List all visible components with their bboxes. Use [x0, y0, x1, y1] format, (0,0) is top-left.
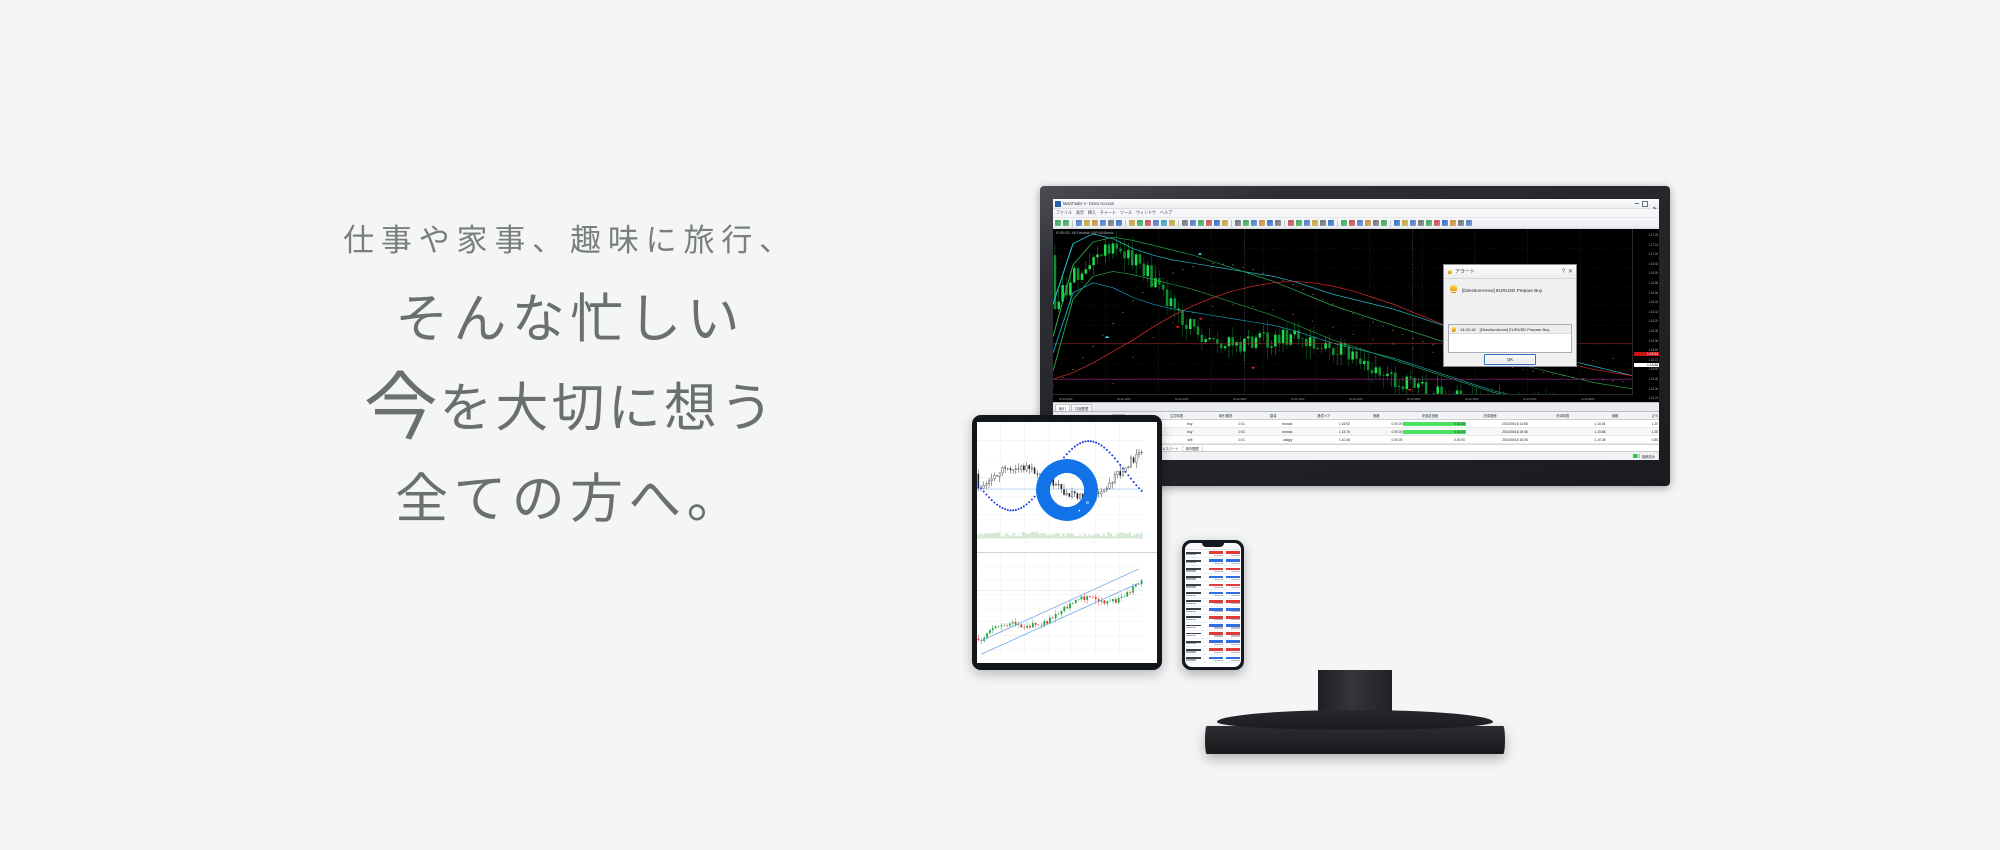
quote-symbol	[1186, 600, 1206, 604]
terminal-cell: 1.10.38	[1529, 438, 1607, 442]
quote-symbol	[1186, 584, 1206, 588]
tablet-top-chart[interactable]: EURUSD, Daily 1.17801.17401.17001.16601.…	[977, 422, 1157, 553]
phone-quotes-list[interactable]	[1185, 550, 1241, 667]
price-tick: 1.15.60	[1648, 367, 1658, 371]
quote-ask	[1224, 648, 1240, 652]
status-connection: 接続済み	[1630, 452, 1659, 460]
time-tick: 20 Jun 16:00	[1465, 397, 1478, 401]
terminal-header-cell: 손익	[1619, 413, 1659, 418]
clock-icon[interactable]: ◷	[1074, 519, 1079, 524]
pencil-icon[interactable]: /	[1096, 540, 1101, 545]
gear-icon[interactable]: ✲	[1117, 519, 1122, 524]
terminal-cell: 2021/06/18 15:46	[1466, 430, 1529, 434]
quote-symbol	[1186, 649, 1206, 653]
toolbar-button-43[interactable]	[1434, 220, 1440, 226]
toolbar-button-32[interactable]	[1341, 220, 1347, 226]
terminal-cell: 1.15.92	[1293, 422, 1351, 426]
hero-copy: 仕事や家事、趣味に旅行、 そんな忙しい 今を大切に想う 全ての方へ。	[250, 225, 890, 526]
quote-bid	[1207, 648, 1223, 652]
toolbar-button-27[interactable]	[1296, 220, 1302, 226]
alert-close-icon[interactable]: ✕	[1568, 269, 1573, 275]
time-tick: 21 Jun 08:00	[1581, 397, 1594, 401]
terminal-cell: eurusd	[1246, 422, 1293, 426]
terminal-header-cell: 価格	[1570, 413, 1619, 418]
quote-ask	[1224, 608, 1240, 612]
price-tick: 1.15.48	[1648, 377, 1658, 381]
toolbar-separator	[1284, 220, 1285, 227]
terminal-header-cell: 数量	[1233, 413, 1277, 418]
price-tick: 1.16.80	[1648, 271, 1658, 275]
alert-message: [DirectionArrow] EURUSD Prepare Buy	[1462, 284, 1542, 294]
time-tick: 19 Jun 00:00	[1175, 397, 1188, 401]
toolbar-separator	[1390, 220, 1391, 227]
list-item[interactable]	[1185, 574, 1241, 582]
terminal-footer-tab-6[interactable]: 操作履歴	[1186, 446, 1203, 451]
terminal-cell: 1.15.88	[1529, 430, 1607, 434]
toolbar-separator	[1178, 220, 1179, 227]
alert-message-area: [DirectionArrow] EURUSD Prepare Buy	[1444, 279, 1576, 324]
toolbar-button-33[interactable]	[1349, 220, 1355, 226]
toolbar-button-2[interactable]	[1076, 220, 1082, 226]
price-tick: 1.16.20	[1648, 319, 1658, 323]
quote-symbol	[1186, 568, 1206, 572]
menu-item-4[interactable]: ツール	[1120, 210, 1132, 217]
toolbar-separator	[1337, 220, 1338, 227]
chart-icon[interactable]: ▦	[1114, 529, 1119, 534]
bell-large-icon	[1449, 284, 1458, 293]
share-icon[interactable]: ⌁	[1114, 508, 1119, 513]
terminal-cell: 1.20	[1607, 422, 1660, 426]
price-tick: 1.15.96	[1648, 339, 1658, 343]
menu-item-3[interactable]: チャート	[1100, 210, 1116, 217]
quote-ask	[1224, 616, 1240, 620]
toolbar-button-24[interactable]	[1267, 220, 1273, 226]
quote-ask	[1224, 624, 1240, 628]
alert-row-message: [DirectionArrow] EURUSD Prepare Buy	[1480, 327, 1550, 332]
hero-line-4: 全ての方へ。	[250, 473, 890, 526]
quote-ask	[1224, 632, 1240, 636]
window-controls[interactable]: ✕	[1635, 201, 1657, 207]
quote-bid	[1207, 576, 1223, 580]
quote-bid	[1207, 616, 1223, 620]
toolbar-separator	[1072, 220, 1073, 227]
price-tick: 1.16.92	[1648, 262, 1658, 266]
toolbar-button-40[interactable]	[1410, 220, 1416, 226]
list-item[interactable]	[1185, 607, 1241, 615]
toolbar-button-28[interactable]	[1304, 220, 1310, 226]
terminal-cell: 1.05	[1607, 430, 1660, 434]
list-item[interactable]	[1185, 655, 1241, 663]
toolbar-button-3[interactable]	[1084, 220, 1090, 226]
terminal-cell: 1.16.04	[1529, 422, 1607, 426]
alert-dialog[interactable]: アラート ? ✕ [DirectionArrow] EURUSD Prepare…	[1443, 264, 1577, 367]
quote-bid	[1207, 584, 1223, 588]
toolbar-button-19[interactable]	[1222, 220, 1228, 226]
price-tick: 1.16.32	[1648, 310, 1658, 314]
hero-line-3: 今を大切に想う	[250, 371, 890, 445]
terminal-tabs[interactable]: 取引口座履歴	[1053, 403, 1659, 412]
toolbar-separator	[1231, 220, 1232, 227]
hero-line-3-rest: を大切に想う	[439, 379, 776, 438]
terminal-cell: 0.00.00	[1351, 430, 1404, 434]
layers-icon[interactable]: ▤	[1106, 537, 1111, 542]
terminal-header-cell: 決済指値	[1439, 413, 1498, 418]
terminal-cell: 1.10.46	[1293, 438, 1351, 442]
phone-screen[interactable]	[1185, 543, 1241, 667]
monitor-stand-base	[1205, 726, 1505, 754]
time-tick: 19 Jun 16:00	[1291, 397, 1304, 401]
terminal-cell: 0.00.00	[1403, 430, 1466, 434]
toolbar-button-0[interactable]	[1055, 220, 1061, 226]
menu-item-0[interactable]: ファイル	[1056, 210, 1072, 217]
terminal-cell: 0.00.00	[1403, 422, 1466, 426]
price-tick: 1.17.04	[1648, 252, 1658, 256]
price-tick: 1.17.28	[1648, 233, 1658, 237]
list-item[interactable]	[1185, 631, 1241, 639]
terminal-header-cell: 決済時間	[1498, 413, 1571, 418]
toolbar-button-21[interactable]	[1243, 220, 1249, 226]
connection-indicator-icon	[1633, 454, 1640, 458]
quote-bid	[1207, 600, 1223, 604]
bell-row-icon	[1451, 327, 1456, 332]
crosshair-icon[interactable]: ✛	[1096, 497, 1101, 502]
price-tick: 1.16.68	[1648, 281, 1658, 285]
list-item[interactable]	[1185, 590, 1241, 598]
ruler-icon[interactable]: ▤	[1106, 500, 1111, 505]
grid-icon[interactable]: ▩	[1085, 537, 1090, 542]
toolbar-button-29[interactable]	[1312, 220, 1318, 226]
price-tick: 1.15.36	[1648, 387, 1658, 391]
alert-dialog-title: アラート	[1455, 268, 1559, 275]
toolbar-button-36[interactable]	[1373, 220, 1379, 226]
alert-history-row[interactable]: 14:20:18 [DirectionArrow] EURUSD Prepare…	[1449, 325, 1571, 334]
price-tick: 1.15.24	[1648, 396, 1658, 400]
phone-notch	[1202, 543, 1224, 547]
terminal-cell: 0.01	[1193, 422, 1246, 426]
toolbar-button-23[interactable]	[1259, 220, 1265, 226]
alert-ok-button[interactable]: OK	[1484, 354, 1536, 365]
hero-line-2: そんな忙しい	[250, 293, 890, 346]
toolbar-button-10[interactable]	[1145, 220, 1151, 226]
toolbar-button-38[interactable]	[1394, 220, 1400, 226]
toolbar-button-34[interactable]	[1357, 220, 1363, 226]
menu-item-2[interactable]: 挿入	[1088, 210, 1096, 217]
tablet-screen[interactable]: EURUSD, Daily 1.17801.17401.17001.16601.…	[977, 422, 1157, 663]
quote-bid	[1207, 551, 1223, 555]
price-scale[interactable]: 1.17.281.17.161.17.041.16.921.16.801.16.…	[1632, 229, 1659, 402]
toolbar-button-13[interactable]	[1169, 220, 1175, 226]
toolbar-button-45[interactable]	[1450, 220, 1456, 226]
time-scale[interactable]: 18 Jun 04:0018 Jun 12:0019 Jun 00:0019 J…	[1053, 394, 1633, 402]
list-item[interactable]	[1185, 582, 1241, 590]
list-item[interactable]	[1185, 639, 1241, 647]
menu-item-1[interactable]: 表示	[1076, 210, 1084, 217]
toolbar-button-11[interactable]	[1153, 220, 1159, 226]
terminal-cell: 2021/06/18 16:35	[1466, 438, 1529, 442]
quote-bid	[1207, 559, 1223, 563]
terminal-cell: 0.00.00	[1403, 438, 1466, 442]
toolbar-button-41[interactable]	[1418, 220, 1424, 226]
time-tick: 18 Jun 12:00	[1117, 397, 1130, 401]
quote-ask	[1224, 551, 1240, 555]
hero-lead-text: 仕事や家事、趣味に旅行、	[250, 225, 890, 256]
time-tick: 19 Jun 08:00	[1233, 397, 1246, 401]
toolbar-button-30[interactable]	[1320, 220, 1326, 226]
terminal-cell: 0.00.00	[1351, 422, 1404, 426]
quote-symbol	[1186, 576, 1206, 580]
quote-ask	[1224, 559, 1240, 563]
terminal-cell: 0.00.00	[1351, 438, 1404, 442]
list-item[interactable]	[1185, 615, 1241, 623]
star-icon[interactable]: ✦	[1077, 508, 1082, 513]
toolbar-button-9[interactable]	[1137, 220, 1143, 226]
toolbar-button-42[interactable]	[1426, 220, 1432, 226]
terminal-tab-0[interactable]: 取引	[1055, 404, 1070, 411]
toolbar-button-18[interactable]	[1214, 220, 1220, 226]
time-tick: 21 Jun 00:00	[1523, 397, 1536, 401]
terminal-cell: usdjpy	[1246, 438, 1293, 442]
terminal-cell: 1.15.76	[1293, 430, 1351, 434]
list-item[interactable]	[1185, 599, 1241, 607]
quote-ask	[1224, 640, 1240, 644]
hero-line-3-emphasis: 今	[364, 366, 439, 449]
toolbar-button-44[interactable]	[1442, 220, 1448, 226]
toolbar-button-8[interactable]	[1129, 220, 1135, 226]
quote-symbol	[1186, 552, 1206, 556]
bell-icon	[1447, 269, 1452, 274]
quote-bid	[1207, 624, 1223, 628]
alert-button-row: OK	[1444, 353, 1576, 366]
tablet-device: EURUSD, Daily 1.17801.17401.17001.16601.…	[972, 415, 1162, 670]
quote-symbol	[1186, 608, 1206, 612]
quote-ask	[1224, 576, 1240, 580]
toolbar-button-46[interactable]	[1458, 220, 1464, 226]
quote-symbol	[1186, 641, 1206, 645]
quote-bid	[1207, 608, 1223, 612]
toolbar-button-31[interactable]	[1328, 220, 1334, 226]
terminal-tab-1[interactable]: 口座履歴	[1071, 404, 1093, 411]
terminal-cell: 0.01	[1193, 438, 1246, 442]
quote-ask	[1224, 592, 1240, 596]
help-icon[interactable]: ?	[1562, 269, 1565, 275]
toolbar-button-35[interactable]	[1365, 220, 1371, 226]
quote-bid	[1207, 568, 1223, 572]
toolbar-button-47[interactable]	[1466, 220, 1472, 226]
smartphone-device	[1182, 540, 1244, 670]
mt4-app-icon	[1055, 201, 1061, 207]
quote-ask	[1224, 657, 1240, 661]
time-tick: 18 Jun 04:00	[1059, 397, 1072, 401]
mt4-title-bar: MetaTrader 4 - Demo Account ✕	[1053, 199, 1659, 209]
price-tick: 1.16.44	[1648, 300, 1658, 304]
minimize-icon[interactable]	[1635, 203, 1639, 204]
terminal-cell: 0.01	[1193, 430, 1246, 434]
terminal-footer-tab-5[interactable]: エキスパート	[1159, 446, 1183, 451]
plus-icon[interactable]: +	[1077, 529, 1082, 534]
alert-row-time: 14:20:18	[1460, 327, 1476, 332]
alert-dialog-title-bar: アラート ? ✕	[1444, 265, 1576, 279]
quote-symbol	[1186, 625, 1206, 629]
quote-symbol	[1186, 657, 1206, 661]
terminal-header-cell: 通貨ペア	[1278, 413, 1332, 418]
quote-bid	[1207, 640, 1223, 644]
terminal-header-cell: 決済逆指値	[1381, 413, 1440, 418]
toolbar-button-20[interactable]	[1235, 220, 1241, 226]
mt4-menu-bar[interactable]: ファイル表示挿入チャートツールウィンドウヘルプ	[1053, 209, 1659, 218]
quote-symbol	[1186, 633, 1206, 637]
mt4-chart-window[interactable]: EURUSD, M5 Parabolic SAR MA Bands 1.17.2…	[1053, 229, 1659, 402]
quote-bid	[1207, 657, 1223, 661]
toolbar-button-22[interactable]	[1251, 220, 1257, 226]
toolbar-button-14[interactable]	[1182, 220, 1188, 226]
tablet-bottom-chart[interactable]: USDJPY, H4 ab111.78 110.97110.84110.7111…	[977, 553, 1157, 663]
toolbar-button-37[interactable]	[1381, 220, 1387, 226]
price-tick: 1.15.72	[1648, 358, 1658, 362]
toolbar-button-16[interactable]	[1198, 220, 1204, 226]
list-item[interactable]	[1185, 566, 1241, 574]
price-marker: 1.15.94	[1634, 352, 1659, 356]
menu-item-6[interactable]: ヘルプ	[1160, 210, 1172, 217]
quote-ask	[1224, 600, 1240, 604]
toolbar-button-6[interactable]	[1108, 220, 1114, 226]
radial-menu[interactable]	[1036, 459, 1098, 521]
toolbar-button-1[interactable]	[1063, 220, 1069, 226]
quote-symbol	[1186, 560, 1206, 564]
hero-section: 仕事や家事、趣味に旅行、 そんな忙しい 今を大切に想う 全ての方へ。 MetaT…	[0, 0, 2000, 850]
time-tick: 20 Jun 00:00	[1349, 397, 1362, 401]
toolbar-button-12[interactable]	[1161, 220, 1167, 226]
toolbar-button-7[interactable]	[1116, 220, 1122, 226]
toolbar-button-39[interactable]	[1402, 220, 1408, 226]
terminal-cell: 2021/06/18 14:58	[1466, 422, 1529, 426]
toolbar-button-17[interactable]	[1206, 220, 1212, 226]
terminal-header-cell: 取引種別	[1184, 413, 1233, 418]
mt4-toolbar[interactable]	[1053, 218, 1659, 229]
toolbar-button-26[interactable]	[1288, 220, 1294, 226]
toolbar-separator	[1125, 220, 1126, 227]
quote-bid	[1207, 632, 1223, 636]
time-tick: 20 Jun 08:00	[1407, 397, 1420, 401]
terminal-header-cell: 価格	[1331, 413, 1380, 418]
terminal-cell: 0.85	[1607, 438, 1660, 442]
list-item[interactable]	[1185, 647, 1241, 655]
list-item[interactable]	[1185, 623, 1241, 631]
toolbar-button-4[interactable]	[1092, 220, 1098, 226]
quote-symbol	[1186, 592, 1206, 596]
close-icon[interactable]: ✕	[1651, 202, 1655, 206]
list-icon[interactable]: ☰	[1085, 500, 1090, 505]
list-item[interactable]	[1185, 550, 1241, 558]
toolbar-button-15[interactable]	[1190, 220, 1196, 226]
quote-ask	[1224, 568, 1240, 572]
quote-ask	[1224, 584, 1240, 588]
quote-symbol	[1186, 616, 1206, 620]
price-tick: 1.16.08	[1648, 329, 1658, 333]
price-tick: 1.16.56	[1648, 291, 1658, 295]
price-marker: 1.15.88	[1634, 363, 1659, 367]
mt4-window-title: MetaTrader 4 - Demo Account	[1063, 201, 1633, 207]
terminal-cell: eurusd	[1246, 430, 1293, 434]
chart-symbol-label: EURUSD, M5 Parabolic SAR MA Bands	[1056, 231, 1113, 235]
alert-history-list[interactable]: 14:20:18 [DirectionArrow] EURUSD Prepare…	[1448, 324, 1572, 353]
toolbar-button-5[interactable]	[1100, 220, 1106, 226]
maximize-icon[interactable]	[1642, 201, 1648, 207]
status-connection-label: 接続済み	[1642, 454, 1655, 459]
menu-item-5[interactable]: ウィンドウ	[1136, 210, 1156, 217]
quote-bid	[1207, 592, 1223, 596]
list-item[interactable]	[1185, 558, 1241, 566]
price-tick: 1.17.16	[1648, 243, 1658, 247]
toolbar-button-25[interactable]	[1275, 220, 1281, 226]
